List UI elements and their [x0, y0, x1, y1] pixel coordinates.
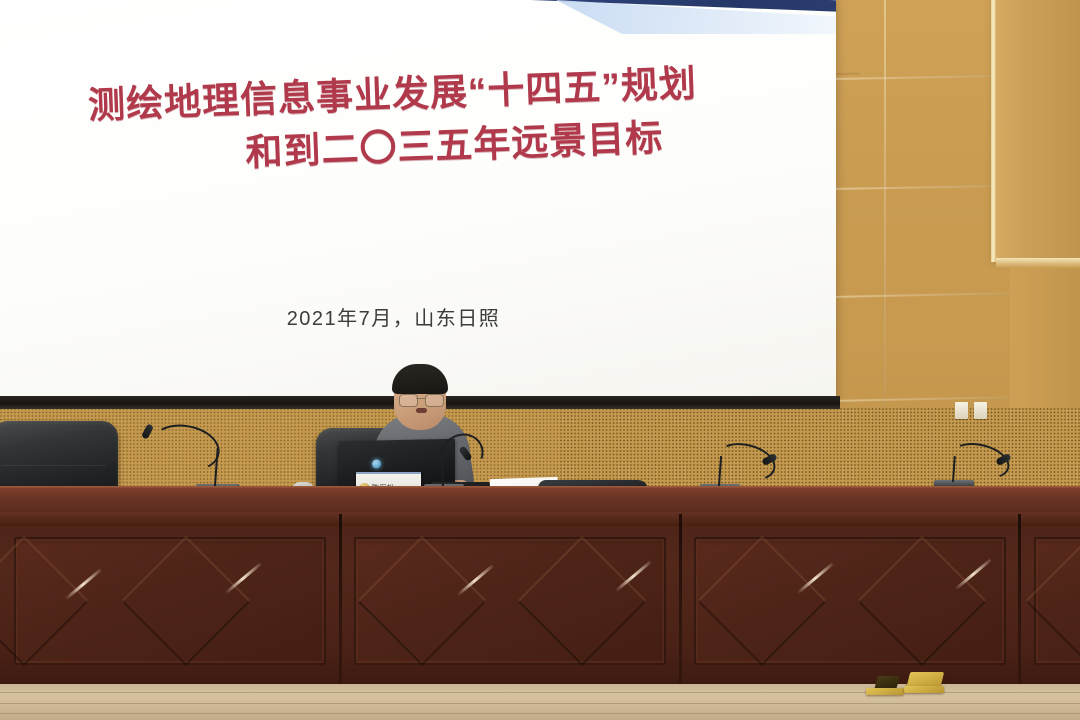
panel-diamond-inlay	[0, 536, 89, 666]
panel-diamond-inlay	[517, 536, 647, 666]
eyeglass-lens-left	[399, 394, 418, 407]
panel-diamond-inlay	[1025, 536, 1080, 666]
table-panel	[14, 537, 326, 665]
panel-sheen	[224, 563, 261, 595]
conference-room-scene: 测绘地理信息事业发展“十四五”规划 和到二〇三五年远景目标 2021年7月，山东…	[0, 0, 1080, 720]
table-panel-seam	[1018, 514, 1021, 689]
panel-diamond-inlay	[857, 536, 987, 666]
speaker-mouth	[416, 408, 427, 413]
panel-diamond-inlay	[121, 536, 251, 666]
brass-floor-outlet[interactable]	[866, 688, 904, 695]
wall-pillar-soffit	[996, 258, 1080, 268]
chair-seam	[2, 465, 106, 466]
conference-chair[interactable]	[0, 421, 118, 495]
eyeglass-bridge	[416, 398, 426, 399]
wall-pillar	[996, 0, 1080, 262]
table-panel-seam	[339, 514, 342, 689]
wall-switch-plate[interactable]	[974, 402, 987, 419]
panel-diamond-inlay	[357, 536, 487, 666]
projection-screen: 测绘地理信息事业发展“十四五”规划 和到二〇三五年远景目标 2021年7月，山东…	[0, 0, 836, 400]
wall-pillar-edge	[991, 0, 996, 262]
floor-plank-line	[0, 713, 1080, 714]
laptop-logo-icon	[372, 459, 381, 468]
eyeglass-lens-right	[425, 394, 444, 407]
table-panel	[354, 537, 666, 665]
table-panel-seam	[679, 514, 682, 689]
wall-switch-plate[interactable]	[955, 402, 968, 419]
slide-subtitle: 2021年7月，山东日照	[0, 302, 791, 331]
panel-diamond-inlay	[697, 536, 827, 666]
table-panel	[1034, 537, 1080, 665]
slide-title: 测绘地理信息事业发展“十四五”规划 和到二〇三五年远景目标	[0, 0, 795, 243]
floor-plank-line	[0, 703, 1080, 704]
table-front-rail	[0, 512, 1080, 526]
table-panel	[694, 537, 1006, 665]
eyeglasses	[399, 394, 443, 405]
table-top	[0, 488, 1080, 514]
brass-floor-outlet[interactable]	[904, 686, 944, 693]
